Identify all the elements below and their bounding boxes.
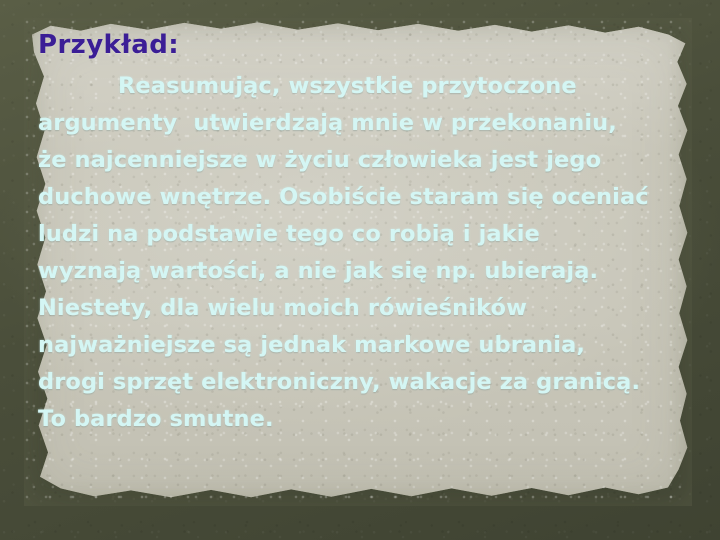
body-line: ludzi na podstawie tego co robią i jakie (38, 216, 690, 253)
body-line: Reasumując, wszystkie przytoczone (38, 68, 690, 105)
slide-body: Reasumując, wszystkie przytoczone argume… (38, 68, 690, 438)
body-line: drogi sprzęt elektroniczny, wakacje za g… (38, 364, 690, 401)
body-line: To bardzo smutne. (38, 401, 690, 438)
presentation-slide: Przykład: Reasumując, wszystkie przytocz… (0, 0, 720, 540)
slide-content: Przykład: Reasumując, wszystkie przytocz… (38, 30, 690, 438)
body-line: Niestety, dla wielu moich rówieśników (38, 290, 690, 327)
body-line: najważniejsze są jednak markowe ubrania, (38, 327, 690, 364)
slide-title: Przykład: (38, 30, 690, 60)
body-line: duchowe wnętrze. Osobiście staram się oc… (38, 179, 690, 216)
body-line: że najcenniejsze w życiu człowieka jest … (38, 142, 690, 179)
body-line: wyznają wartości, a nie jak się np. ubie… (38, 253, 690, 290)
body-line: argumenty utwierdzają mnie w przekonaniu… (38, 105, 690, 142)
